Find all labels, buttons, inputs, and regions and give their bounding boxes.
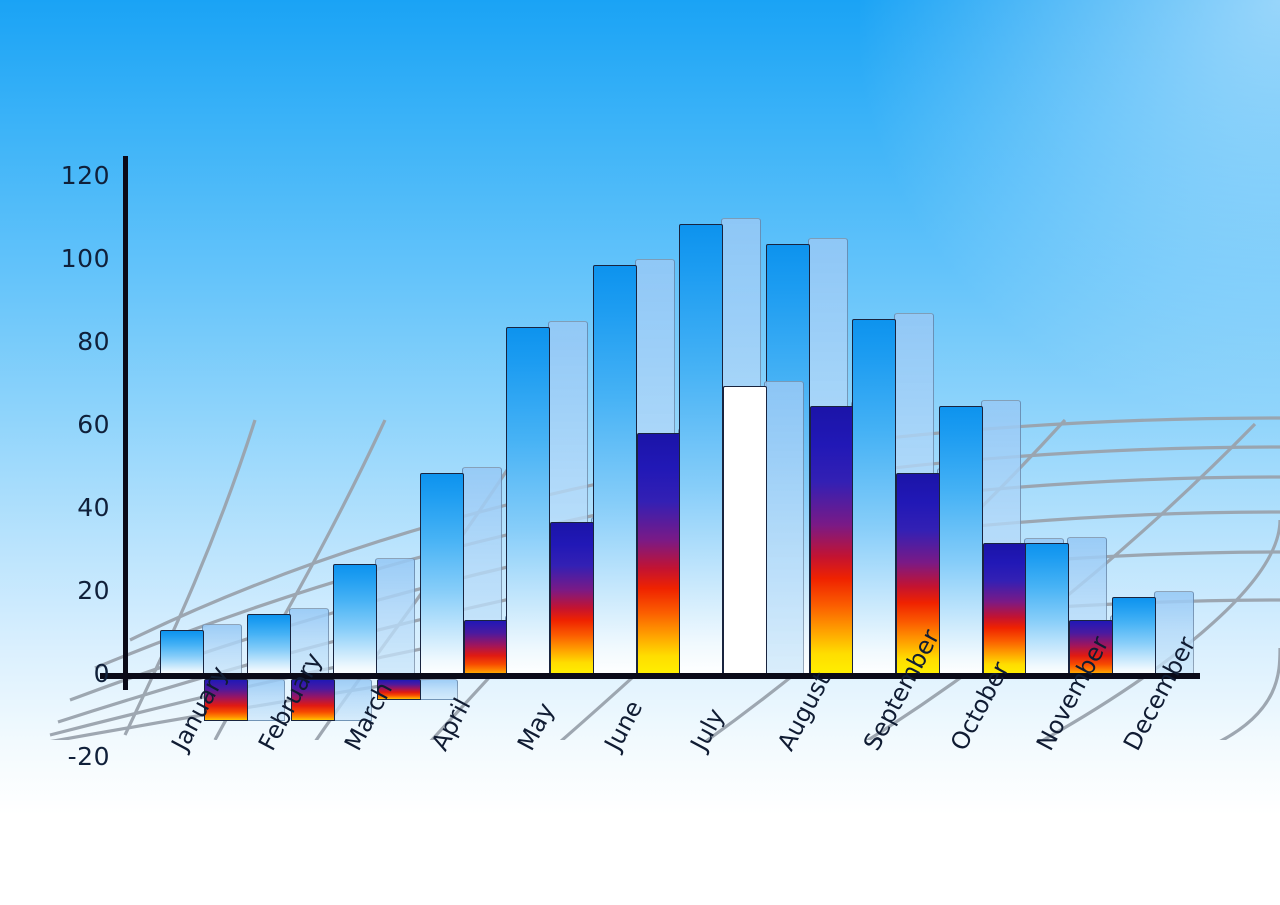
bar-fill bbox=[464, 620, 508, 676]
chart-canvas: 120100806040200-20 JanuaryFebruaryMarchA… bbox=[0, 0, 1280, 905]
bar-shadow bbox=[375, 558, 415, 676]
x-axis-line bbox=[100, 673, 1200, 679]
y-tick-label: 80 bbox=[77, 327, 110, 356]
bar-fill bbox=[333, 564, 377, 676]
bar-fill bbox=[506, 327, 550, 676]
bar-blue-november[interactable] bbox=[1025, 543, 1069, 676]
bar-fill bbox=[593, 265, 637, 676]
bar-shadow bbox=[764, 381, 804, 677]
bar-blue-october[interactable] bbox=[939, 406, 983, 676]
bar-fill bbox=[679, 224, 723, 676]
bar-fill bbox=[852, 319, 896, 676]
bar-fill bbox=[810, 406, 854, 676]
bar-fill bbox=[1025, 543, 1069, 676]
bar-blue-january[interactable] bbox=[160, 630, 204, 676]
y-tick-label: 60 bbox=[77, 410, 110, 439]
bar-blue-september[interactable] bbox=[852, 319, 896, 676]
bar-fill bbox=[420, 473, 464, 676]
y-tick-label: 120 bbox=[61, 161, 110, 190]
bar-fire-october[interactable] bbox=[983, 543, 1027, 676]
bar-fill bbox=[637, 433, 681, 676]
bar-fire-june[interactable] bbox=[637, 433, 681, 676]
bar-blue-may[interactable] bbox=[506, 327, 550, 676]
bar-fill bbox=[160, 630, 204, 676]
y-tick-label: 20 bbox=[77, 576, 110, 605]
y-axis-line bbox=[123, 156, 128, 690]
bar-fire-august[interactable] bbox=[810, 406, 854, 676]
bar-fill bbox=[247, 614, 291, 676]
bar-fill bbox=[1112, 597, 1156, 676]
y-tick-label: 0 bbox=[94, 659, 110, 688]
plot-area bbox=[0, 0, 1280, 905]
bar-fill bbox=[550, 522, 594, 676]
bar-blue-december[interactable] bbox=[1112, 597, 1156, 676]
bar-blue-july[interactable] bbox=[679, 224, 723, 676]
bar-blue-february[interactable] bbox=[247, 614, 291, 676]
y-tick-label: 100 bbox=[61, 244, 110, 273]
bar-fill bbox=[983, 543, 1027, 676]
y-tick-label: -20 bbox=[68, 742, 110, 771]
bar-fill bbox=[939, 406, 983, 676]
bar-blue-march[interactable] bbox=[333, 564, 377, 676]
y-tick-label: 40 bbox=[77, 493, 110, 522]
bar-fire-april[interactable] bbox=[464, 620, 508, 676]
bar-blue-april[interactable] bbox=[420, 473, 464, 676]
bar-fire-may[interactable] bbox=[550, 522, 594, 676]
bar-fill bbox=[723, 386, 767, 677]
bar-fire-july[interactable] bbox=[723, 386, 767, 677]
bar-blue-june[interactable] bbox=[593, 265, 637, 676]
